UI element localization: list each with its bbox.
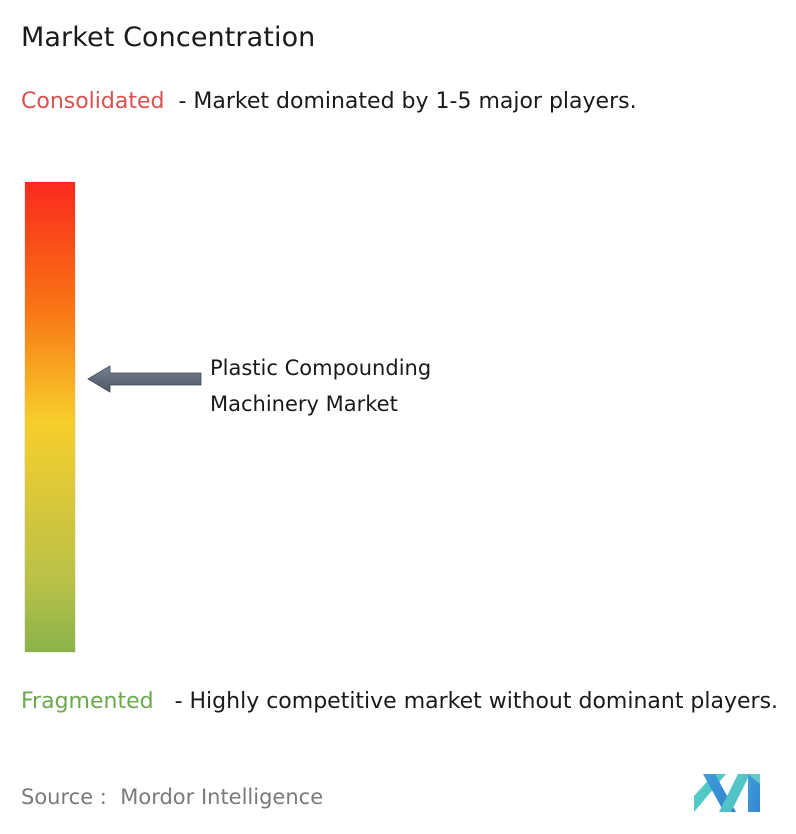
legend-fragmented-description: Highly competitive market without domina… [190, 689, 779, 714]
legend-fragmented-separator: - [154, 689, 190, 714]
marker-arrow-icon [87, 364, 202, 394]
legend-consolidated-separator: - [164, 89, 193, 114]
marker-label-line2: Machinery Market [210, 386, 540, 422]
marker-label: Plastic Compounding Machinery Market [210, 350, 540, 422]
marker-label-line1: Plastic Compounding [210, 356, 431, 380]
concentration-gradient-bar [25, 182, 75, 652]
source-text: Source : Mordor Intelligence [21, 783, 323, 811]
page-title: Market Concentration [21, 21, 315, 55]
market-concentration-chart: Market Concentration Consolidated - Mark… [0, 0, 796, 834]
legend-fragmented-keyword: Fragmented [21, 689, 154, 714]
legend-fragmented: Fragmented - Highly competitive market w… [21, 686, 791, 718]
legend-consolidated: Consolidated - Market dominated by 1-5 m… [21, 86, 776, 118]
legend-consolidated-description: Market dominated by 1-5 major players. [193, 89, 636, 114]
mordor-intelligence-logo-icon [692, 772, 770, 816]
legend-consolidated-keyword: Consolidated [21, 89, 164, 114]
